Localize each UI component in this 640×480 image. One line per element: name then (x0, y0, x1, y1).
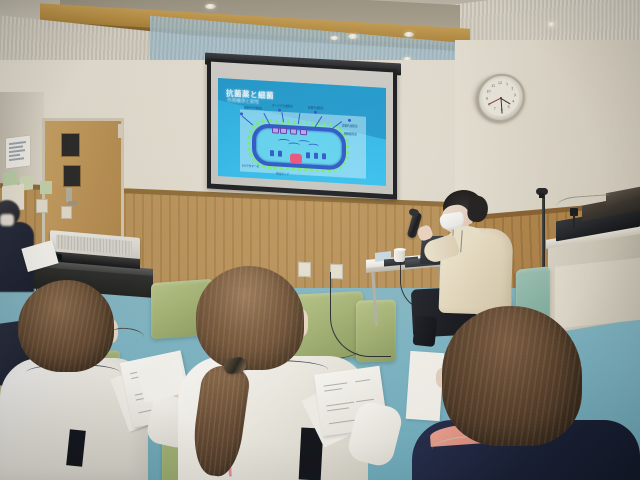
wall-notice-upper (6, 136, 30, 169)
ceiling-downlight (348, 34, 358, 39)
attendee-center-hair-strands (196, 266, 304, 370)
side-counter-front (555, 257, 640, 328)
efflux-pump (278, 151, 282, 157)
door-lock-plate (66, 188, 72, 202)
projected-slide: 抗菌薬と細菌 作用機序と耐性 細胞壁合成阻 (218, 78, 386, 186)
slide-marker (314, 111, 317, 114)
efflux-pump (322, 153, 326, 159)
ribosome (280, 128, 287, 134)
efflux-pump (270, 150, 274, 156)
slide-label: 細胞膜障害 (344, 131, 357, 136)
clock-numeral: 12 (497, 81, 503, 86)
attendee-far-left-face (0, 214, 14, 226)
clock-numeral: 3 (512, 93, 518, 98)
ceiling-downlight (205, 4, 216, 9)
slide-marker (240, 112, 243, 115)
clock-minute-hand (501, 98, 503, 113)
dna-strand (308, 143, 319, 149)
clock-numeral: 9 (484, 96, 490, 101)
ceiling-downlight (330, 36, 339, 40)
clock-numeral: 10 (485, 89, 491, 94)
microphone-clip (539, 193, 544, 198)
clock-hour-hand (501, 98, 511, 105)
photo-scene: 抗菌薬と細菌 作用機序と耐性 細胞壁合成阻 (0, 0, 640, 480)
camera-arm (573, 214, 575, 228)
ribosome (272, 127, 279, 133)
slide-marker (348, 119, 351, 122)
door-closer-hinge (118, 124, 123, 138)
slide-marker (278, 109, 281, 112)
door-handle[interactable] (68, 201, 78, 205)
efflux-pump (314, 153, 318, 159)
clock-numeral: 2 (509, 86, 515, 91)
attendee-left-hair-strands (18, 280, 114, 372)
door-vision-panel-upper (61, 133, 80, 157)
wall-outlet-near-door[interactable] (61, 206, 72, 219)
clock-numeral: 11 (490, 84, 496, 89)
clock-numeral: 4 (510, 99, 516, 104)
presenter-shin (412, 315, 437, 347)
cup-rim (394, 248, 406, 251)
equipment-cable (555, 194, 610, 221)
wall-outlet-left[interactable] (36, 199, 48, 213)
membrane-target (290, 153, 302, 164)
clock-face: 12 1 2 3 4 5 6 7 8 9 10 11 (482, 78, 520, 118)
slide-subtitle: 作用機序と耐性 (227, 98, 259, 106)
wall-outlet-center[interactable] (298, 262, 311, 277)
wall-sign-c (40, 181, 52, 194)
paper-cup[interactable] (394, 249, 405, 262)
ceiling-downlight (547, 22, 556, 27)
attendee-right-hair-strands (442, 306, 582, 446)
slide-label: 核酸合成阻害 (308, 105, 324, 110)
ribosome (300, 129, 307, 135)
ceiling-downlight (404, 32, 414, 37)
clock-numeral: 5 (506, 105, 512, 110)
efflux-pump (306, 152, 310, 158)
slide-label: 排出ポンプ (276, 171, 289, 176)
slide-label: 葉酸代謝阻害 (342, 123, 358, 128)
door-vision-panel-lower (63, 165, 81, 187)
ribosome (290, 128, 297, 134)
clock-numeral: 7 (492, 106, 498, 111)
bacterium-outline (252, 123, 346, 171)
